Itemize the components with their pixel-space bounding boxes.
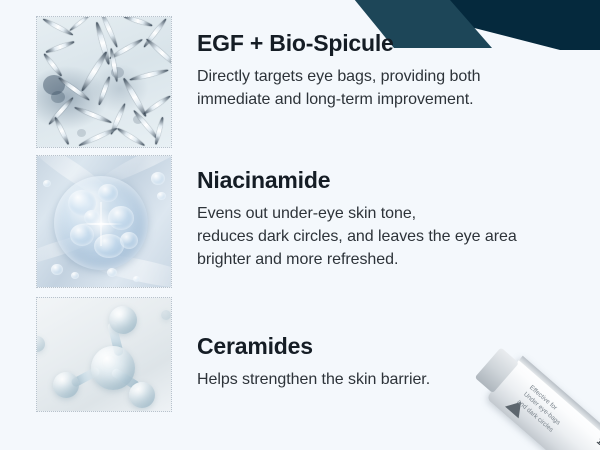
tube-volume: 10ml <box>595 436 600 450</box>
ingredient-heading: Niacinamide <box>197 167 517 194</box>
ingredient-image-bio-spicule <box>36 16 172 148</box>
ingredient-heading: EGF + Bio-Spicule <box>197 30 480 57</box>
ingredient-description: Evens out under-eye skin tone, reduces d… <box>197 203 517 271</box>
ingredient-image-ceramides <box>36 297 172 412</box>
ingredient-block-ceramides: Ceramides Helps strengthen the skin barr… <box>197 333 430 392</box>
ingredient-description: Directly targets eye bags, providing bot… <box>197 66 480 111</box>
ingredient-infographic: EGF + Bio-Spicule Directly targets eye b… <box>0 0 600 450</box>
product-tube: Effective for Under eye-bags and dark ci… <box>468 336 600 450</box>
tube-cap <box>475 347 519 393</box>
ingredient-image-niacinamide <box>36 155 172 288</box>
ingredient-block-egf-bio-spicule: EGF + Bio-Spicule Directly targets eye b… <box>197 30 480 112</box>
ingredient-heading: Ceramides <box>197 333 430 360</box>
ingredient-block-niacinamide: Niacinamide Evens out under-eye skin ton… <box>197 167 517 271</box>
ingredient-description: Helps strengthen the skin barrier. <box>197 369 430 392</box>
